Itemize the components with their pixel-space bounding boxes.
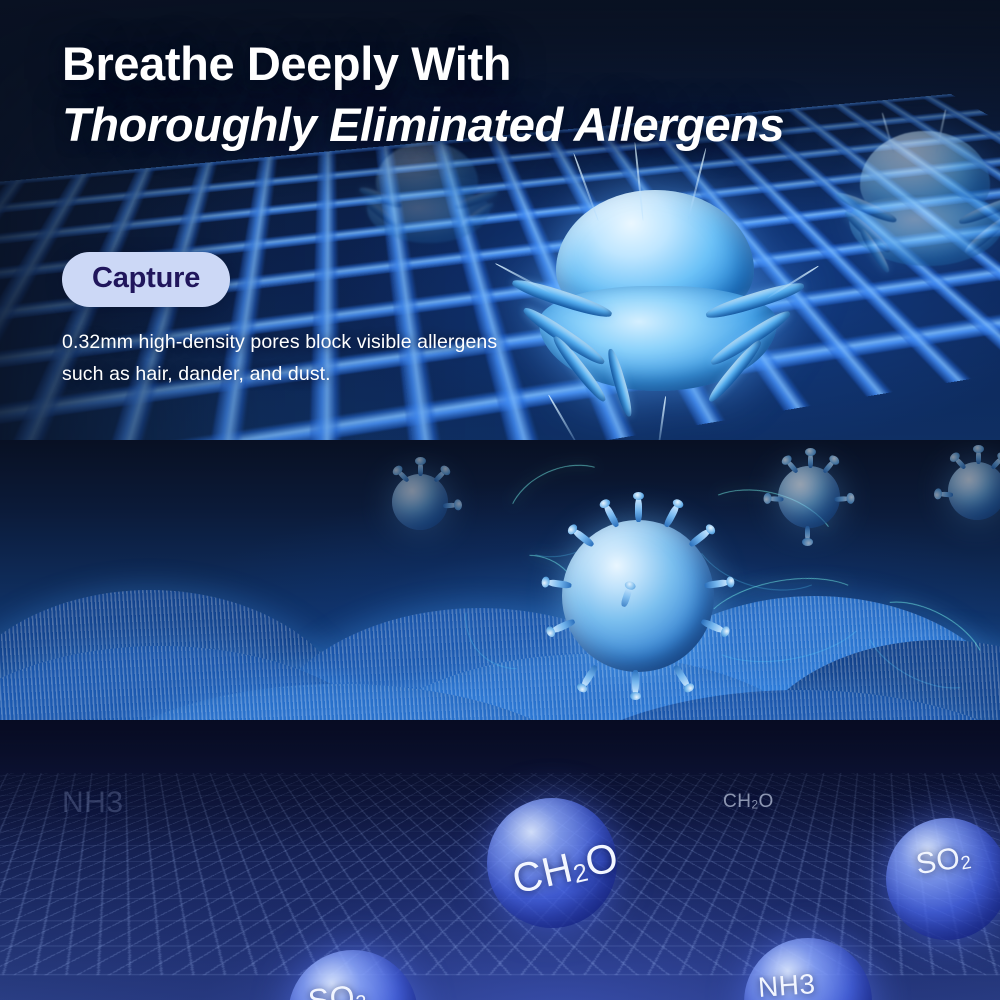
capture-description: 0.32mm high-density pores block visible … [62, 327, 532, 390]
capture-content-block: Capture 0.32mm high-density pores block … [62, 252, 532, 390]
gas-molecule-sphere [886, 818, 1000, 940]
allergen-infographic-poster: Breathe Deeply With Thoroughly Eliminate… [0, 0, 1000, 1000]
headline-line-2: Thoroughly Eliminated Allergens [62, 97, 784, 152]
badge-capture: Capture [62, 252, 230, 307]
virus-particle-icon [778, 466, 840, 528]
virus-particle-primary-icon [562, 520, 714, 672]
virus-particle-icon [392, 474, 448, 530]
page-headline: Breathe Deeply With Thoroughly Eliminate… [62, 38, 784, 152]
dust-mite-secondary-icon [830, 128, 1000, 288]
molecule-label-so2-bottom: SO2 [306, 979, 368, 1000]
molecule-label-nh3: NH3 [757, 970, 816, 1000]
dust-mite-background-icon [352, 140, 502, 260]
dust-mite-primary-icon [510, 185, 800, 425]
virus-particle-icon [948, 462, 1000, 520]
panel-filtration: Filtration 99.97%2 electrostatic capture… [0, 440, 1000, 720]
molecule-label-ch2o-faint: CH2O [723, 792, 774, 811]
molecule-label-nh3-faint: NH3 [62, 788, 124, 818]
panel-adsorption: CH2O CH2O SO2 SO2 NH3 NH3 Adsorption 98.… [0, 720, 1000, 1000]
panel-capture: Breathe Deeply With Thoroughly Eliminate… [0, 0, 1000, 440]
headline-line-1: Breathe Deeply With [62, 38, 784, 91]
